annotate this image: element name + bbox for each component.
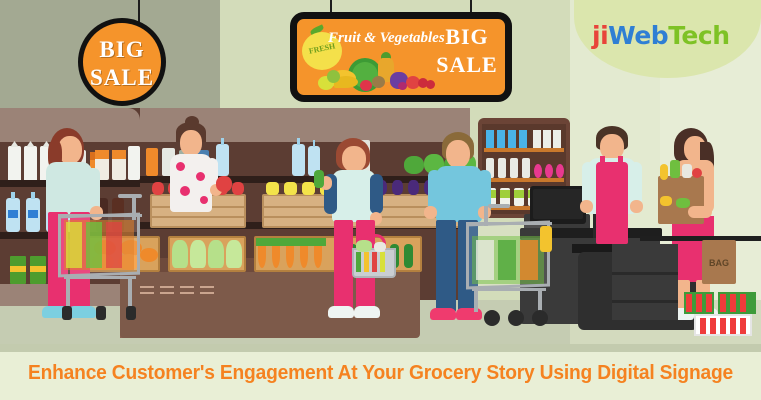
cart-handle-post [484, 206, 488, 226]
cart-leg [474, 290, 478, 312]
cart-wheel [532, 310, 548, 326]
strawberry [740, 318, 746, 334]
cabinet-line [612, 272, 678, 275]
strawberry [730, 318, 736, 334]
yellow-pepper [266, 182, 279, 195]
arm-right [370, 174, 383, 214]
cart-bottom [64, 276, 136, 279]
milk-carton [8, 146, 21, 180]
cart-rim [58, 214, 142, 217]
paper-bag-label: BAG [702, 258, 736, 268]
bottle-label [8, 210, 18, 218]
basket-item [356, 252, 361, 272]
cabinet-line [612, 300, 678, 303]
carrot [286, 244, 294, 268]
torso [436, 166, 482, 222]
strawberry [696, 294, 702, 312]
basket-item [374, 242, 386, 252]
tub-label [500, 190, 510, 198]
cart-wheel [62, 306, 72, 320]
arm-holding-bag [688, 206, 712, 218]
kiwi-icon [372, 76, 385, 88]
blue-bottle [508, 130, 516, 148]
counter-edge [640, 236, 761, 241]
cart-item [66, 222, 82, 268]
island-vent [140, 292, 154, 294]
side-cabinet [612, 244, 678, 320]
strawberry-icon [360, 80, 372, 91]
cart-handle [488, 204, 510, 208]
eggplant [408, 180, 419, 195]
shoe [354, 306, 380, 318]
cart-item [498, 240, 516, 280]
cabbage [208, 240, 224, 268]
cart-bottom [472, 288, 546, 291]
apron-strap [618, 156, 623, 168]
island-vent [200, 292, 214, 294]
hair-bun [185, 116, 199, 128]
strawberry [720, 294, 726, 312]
carrot [300, 244, 308, 268]
basket-item [380, 252, 385, 272]
island-vent [140, 286, 154, 288]
blue-bottle [486, 130, 494, 148]
sale-sign-line1: BIG [83, 37, 161, 63]
strawberry [740, 294, 746, 312]
tomato [152, 182, 164, 195]
berry-icon [398, 82, 407, 90]
cart-wheel [484, 310, 500, 326]
white-bottle [533, 130, 541, 148]
brand-logo[interactable]: jiWebTech [592, 18, 752, 54]
cart-handle-post [132, 196, 136, 220]
bag-carton [682, 164, 692, 178]
juice-box [146, 148, 158, 176]
head [180, 130, 202, 156]
cart-handle [118, 194, 142, 198]
shelf-board [484, 178, 564, 182]
cart-item-tall [540, 226, 552, 252]
milk-carton [128, 146, 140, 180]
bag-apple [692, 168, 702, 178]
logo-part-ji: ji [592, 21, 608, 50]
tomato [232, 182, 244, 195]
dress-dot [196, 172, 205, 181]
cucumber [404, 244, 413, 268]
basket-item [364, 252, 369, 272]
green-pepper [404, 156, 424, 174]
dress-dot [180, 186, 190, 196]
bag-item [676, 198, 690, 208]
hand-left [580, 200, 593, 213]
carrot [258, 244, 266, 268]
pumpkin [140, 248, 158, 262]
blue-bottle [519, 130, 527, 148]
hand-left [424, 206, 437, 219]
cart-leg [538, 290, 542, 312]
head [446, 140, 470, 168]
snack-box-stripe [10, 266, 26, 272]
strawberry [700, 318, 706, 334]
cart-rim [466, 222, 552, 225]
cabbage [190, 240, 206, 268]
spray-bottle [522, 158, 530, 178]
spray-bottle [498, 158, 506, 178]
dress-dot [176, 162, 185, 171]
strawberry [686, 294, 692, 312]
yellow-pepper [284, 182, 297, 195]
shoe [456, 308, 482, 320]
cart-wheel [126, 306, 136, 320]
apron [596, 162, 628, 228]
island-vent [180, 286, 194, 288]
strawberry [710, 318, 716, 334]
sale-sign-line2: SALE [83, 65, 161, 91]
cart-wheel [96, 306, 106, 320]
sale-sign-circle: BIG SALE [78, 18, 166, 106]
promo-banner-scene: 8.88 [0, 0, 761, 400]
apron-strap [600, 156, 605, 168]
water-bottle [292, 144, 305, 176]
jar-lid [95, 150, 109, 159]
white-bottle [553, 130, 561, 148]
cabbage [172, 240, 188, 268]
carrot-tops [256, 238, 326, 246]
held-cucumber [314, 170, 324, 188]
strawberry [730, 294, 736, 312]
carrot [314, 244, 322, 268]
island-vent [160, 292, 174, 294]
cart-item [476, 240, 494, 280]
spray-bottle [510, 158, 518, 178]
island-vent [180, 292, 194, 294]
cart-wheel [508, 310, 524, 326]
leg [334, 220, 353, 310]
white-bottle [543, 130, 551, 148]
strawberry [706, 294, 712, 312]
cabbage [226, 240, 242, 268]
pink-jar [545, 164, 553, 178]
cart-item [86, 222, 102, 268]
cherry-icon [426, 80, 435, 89]
head [342, 146, 366, 172]
shelf-board [484, 148, 564, 152]
leg [436, 220, 456, 312]
produce-island [120, 268, 420, 338]
snack-box-stripe [30, 266, 46, 272]
bag-banana [660, 164, 668, 180]
dress-dot [200, 196, 208, 204]
carrot [272, 244, 280, 268]
milk-carton [24, 146, 37, 180]
logo-part-tech: Tech [668, 21, 729, 50]
tub-label [514, 190, 524, 198]
jar-lid [112, 150, 126, 159]
shoe [430, 308, 456, 320]
pink-jar [556, 164, 564, 178]
logo-part-web: Web [608, 21, 668, 50]
billboard-sale-line2: SALE [432, 52, 502, 78]
billboard-sale-line1: BIG [432, 24, 502, 50]
cart-item [520, 240, 538, 280]
eggplant [392, 180, 403, 195]
basket-item [372, 252, 377, 272]
strawberry [720, 318, 726, 334]
bag-greens [670, 160, 680, 178]
lower-body [596, 226, 628, 244]
island-vent [200, 286, 214, 288]
bag-item [660, 196, 672, 206]
register-screen [533, 189, 583, 219]
shoe [328, 306, 354, 318]
green-apple-icon [327, 70, 340, 83]
shoe [68, 306, 96, 318]
island-vent [160, 286, 174, 288]
headline-text: Enhance Customer's Engagement At Your Gr… [15, 362, 746, 385]
pink-jar [534, 164, 542, 178]
bottle-label [28, 210, 38, 218]
basket-greens [356, 240, 372, 252]
blue-bottle [497, 130, 505, 148]
cart-item [106, 222, 122, 268]
held-tomato [216, 176, 232, 192]
hand-right [630, 200, 643, 213]
sign-cord [138, 0, 140, 22]
